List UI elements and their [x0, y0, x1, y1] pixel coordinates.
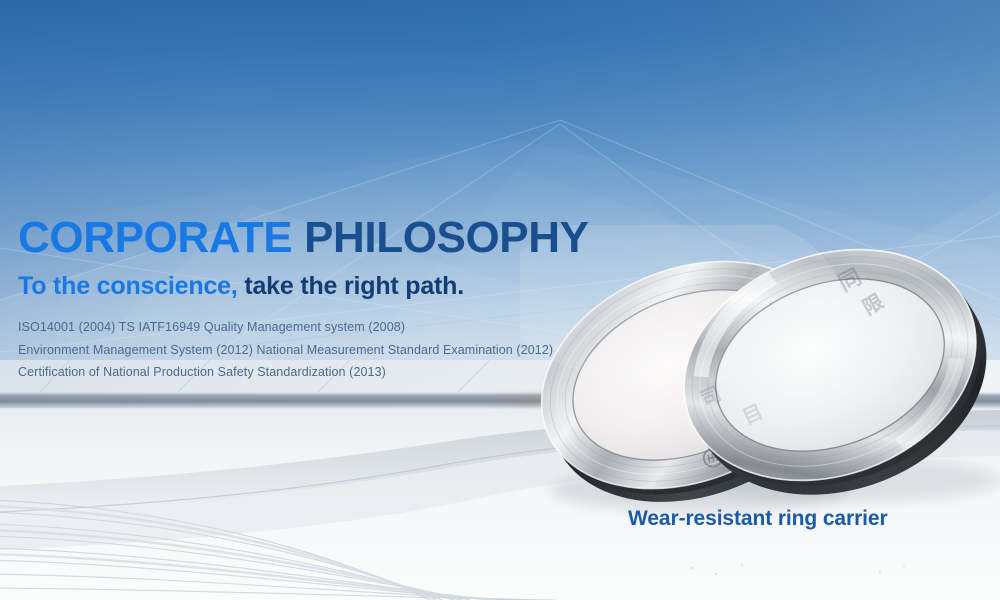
page-subtitle: To the conscience, take the right path. — [18, 270, 638, 302]
banner-copy-block: CORPORATE PHILOSOPHY To the conscience, … — [18, 212, 638, 384]
certification-line: ISO14001 (2004) TS IATF16949 Quality Man… — [18, 316, 638, 339]
product-caption: Wear-resistant ring carrier — [628, 506, 888, 532]
page-title-part-dark: PHILOSOPHY — [292, 213, 588, 262]
page-subtitle-part-dark: take the right path. — [238, 272, 464, 300]
page-subtitle-part-accent: To the conscience, — [18, 272, 238, 300]
page-title-part-accent: CORPORATE — [18, 213, 292, 262]
corporate-philosophy-banner: 同 限 司 目 CORPORATE PHILOSOPHY To the cons… — [0, 0, 1000, 600]
certification-line: Environment Management System (2012) Nat… — [18, 339, 638, 362]
certification-line: Certification of National Production Saf… — [18, 361, 638, 384]
certification-list: ISO14001 (2004) TS IATF16949 Quality Man… — [18, 316, 638, 384]
page-title: CORPORATE PHILOSOPHY — [18, 212, 638, 264]
